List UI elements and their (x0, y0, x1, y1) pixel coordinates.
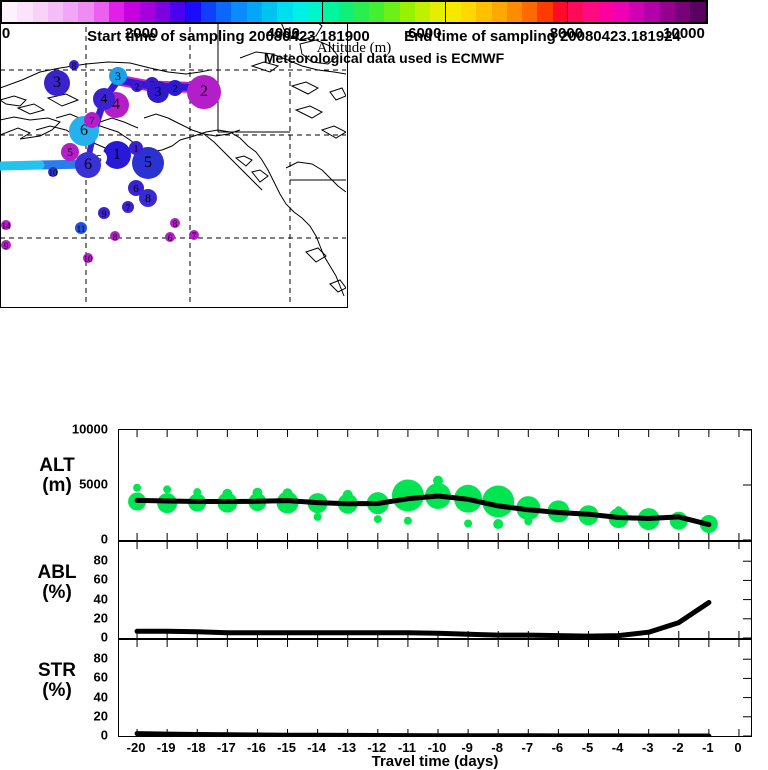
colorbar-swatch (384, 2, 399, 22)
colorbar-swatch (201, 2, 216, 22)
map-day-marker-label: 2 (200, 83, 208, 100)
map-day-marker-label: 7 (126, 203, 131, 213)
map-day-marker-label: 6 (84, 156, 92, 173)
colorbar-swatch (293, 2, 308, 22)
colorbar-swatch (94, 2, 109, 22)
colorbar-swatch (568, 2, 583, 22)
alt-bubble (343, 490, 353, 500)
alt-bubble (374, 515, 382, 523)
map-day-marker-label: 1 (113, 146, 121, 163)
colorbar-swatch (644, 2, 659, 22)
abl-trend-line (137, 603, 709, 637)
alt-bubble (524, 517, 532, 525)
y-tick-label: 0 (48, 630, 108, 645)
colorbar-swatch (446, 2, 461, 22)
str-plot-svg (119, 640, 751, 736)
str-plot-panel[interactable] (118, 639, 752, 737)
y-tick-label: 20 (48, 708, 108, 723)
y-tick-label: 40 (48, 591, 108, 606)
colorbar-swatch (339, 2, 354, 22)
alt-plot-panel[interactable] (118, 429, 752, 541)
alt-bubble (252, 488, 262, 498)
map-day-marker-label: 3 (53, 74, 61, 91)
alt-plot-svg (119, 430, 751, 540)
colorbar-swatches (0, 0, 708, 24)
alt-bubble-markers (128, 476, 718, 533)
abl-plot-panel[interactable] (118, 541, 752, 639)
map-day-marker-label: 8 (113, 232, 118, 242)
map-day-marker-label: 3 (115, 69, 121, 83)
colorbar-swatch (583, 2, 598, 22)
colorbar-swatch (155, 2, 170, 22)
colorbar-swatch (690, 2, 705, 22)
colorbar-swatch (231, 2, 246, 22)
alt-bubble (314, 513, 322, 521)
colorbar-swatch (216, 2, 231, 22)
colorbar-swatch (629, 2, 644, 22)
colorbar-swatch (476, 2, 491, 22)
map-day-marker-label: 5 (67, 145, 73, 159)
alt-bubble (133, 484, 141, 492)
colorbar-swatch (614, 2, 629, 22)
colorbar-swatch (48, 2, 63, 22)
colorbar-swatch (323, 2, 338, 22)
alt-bubble (222, 489, 232, 499)
map-day-marker-label: 7 (192, 231, 197, 241)
y-tick-label: 80 (48, 553, 108, 568)
y-tick-label: 0 (48, 728, 108, 743)
colorbar-swatch (553, 2, 568, 22)
y-tick-label: 60 (48, 572, 108, 587)
colorbar-swatch (415, 2, 430, 22)
colorbar-swatch (247, 2, 262, 22)
colorbar-swatch (461, 2, 476, 22)
map-day-marker-label: 6 (168, 233, 173, 243)
map-day-marker-label: 11 (77, 224, 86, 234)
y-tick-label: 10000 (48, 422, 108, 437)
map-day-marker-label: 10 (49, 168, 59, 178)
colorbar-swatch (675, 2, 690, 22)
colorbar-swatch (63, 2, 78, 22)
y-tick-label: 80 (48, 651, 108, 666)
map-day-marker-label: 5 (144, 154, 152, 171)
colorbar-swatch (140, 2, 155, 22)
y-tick-label: 60 (48, 670, 108, 685)
alt-bubble (404, 517, 412, 525)
colorbar-swatch (537, 2, 552, 22)
colorbar-swatch (2, 2, 17, 22)
y-tick-label: 20 (48, 610, 108, 625)
colorbar-swatch (262, 2, 277, 22)
colorbar-swatch (17, 2, 32, 22)
colorbar-swatch (522, 2, 537, 22)
colorbar-title: Altitude (m) (0, 40, 708, 57)
map-day-marker-label: 7 (89, 115, 95, 127)
colorbar-swatch (660, 2, 675, 22)
abl-axis-ticks (137, 542, 751, 638)
map-day-marker-label: 3 (155, 85, 162, 100)
map-day-marker-label: 2 (172, 83, 178, 95)
colorbar-swatch (492, 2, 507, 22)
map-day-marker-label: 9 (4, 241, 9, 251)
y-tick-label: 0 (48, 532, 108, 547)
colorbar-swatch (124, 2, 139, 22)
map-day-marker-label: 8 (72, 61, 77, 71)
colorbar-swatch (277, 2, 292, 22)
y-tick-label: 40 (48, 689, 108, 704)
map-day-marker-label: 8 (173, 219, 178, 229)
colorbar-swatch (400, 2, 415, 22)
map-day-marker-label: 14 (2, 221, 12, 231)
map-day-marker-label: 9 (102, 209, 107, 219)
map-day-marker-label: 4 (101, 92, 108, 107)
alt-bubble (615, 506, 623, 514)
xaxis-title: Travel time (days) (118, 753, 752, 770)
alt-bubble (493, 519, 503, 529)
colorbar-swatch (109, 2, 124, 22)
map-day-marker-label: 6 (133, 183, 139, 195)
str-trend-line (137, 734, 709, 736)
altitude-colorbar[interactable]: 0200040006000800010000 Altitude (m) (0, 308, 708, 332)
map-day-marker-label: 8 (145, 191, 151, 205)
colorbar-swatch (78, 2, 93, 22)
y-tick-label: 5000 (48, 477, 108, 492)
colorbar-swatch (170, 2, 185, 22)
alt-bubble (163, 485, 171, 493)
colorbar-swatch (507, 2, 522, 22)
alt-bubble (464, 520, 472, 528)
abl-plot-svg (119, 542, 751, 638)
colorbar-swatch (33, 2, 48, 22)
str-axis-ticks (137, 640, 751, 736)
alt-bubble (433, 476, 443, 486)
colorbar-swatch (430, 2, 445, 22)
colorbar-swatch (599, 2, 614, 22)
map-day-marker-label: 1 (134, 144, 139, 155)
alt-bubble (283, 488, 293, 498)
alt-bubble (193, 488, 201, 496)
map-day-marker-label: 10 (84, 254, 94, 264)
colorbar-swatch (369, 2, 384, 22)
map-day-marker-label: 2 (135, 82, 140, 92)
colorbar-swatch (308, 2, 323, 22)
colorbar-swatch (354, 2, 369, 22)
colorbar-swatch (186, 2, 201, 22)
